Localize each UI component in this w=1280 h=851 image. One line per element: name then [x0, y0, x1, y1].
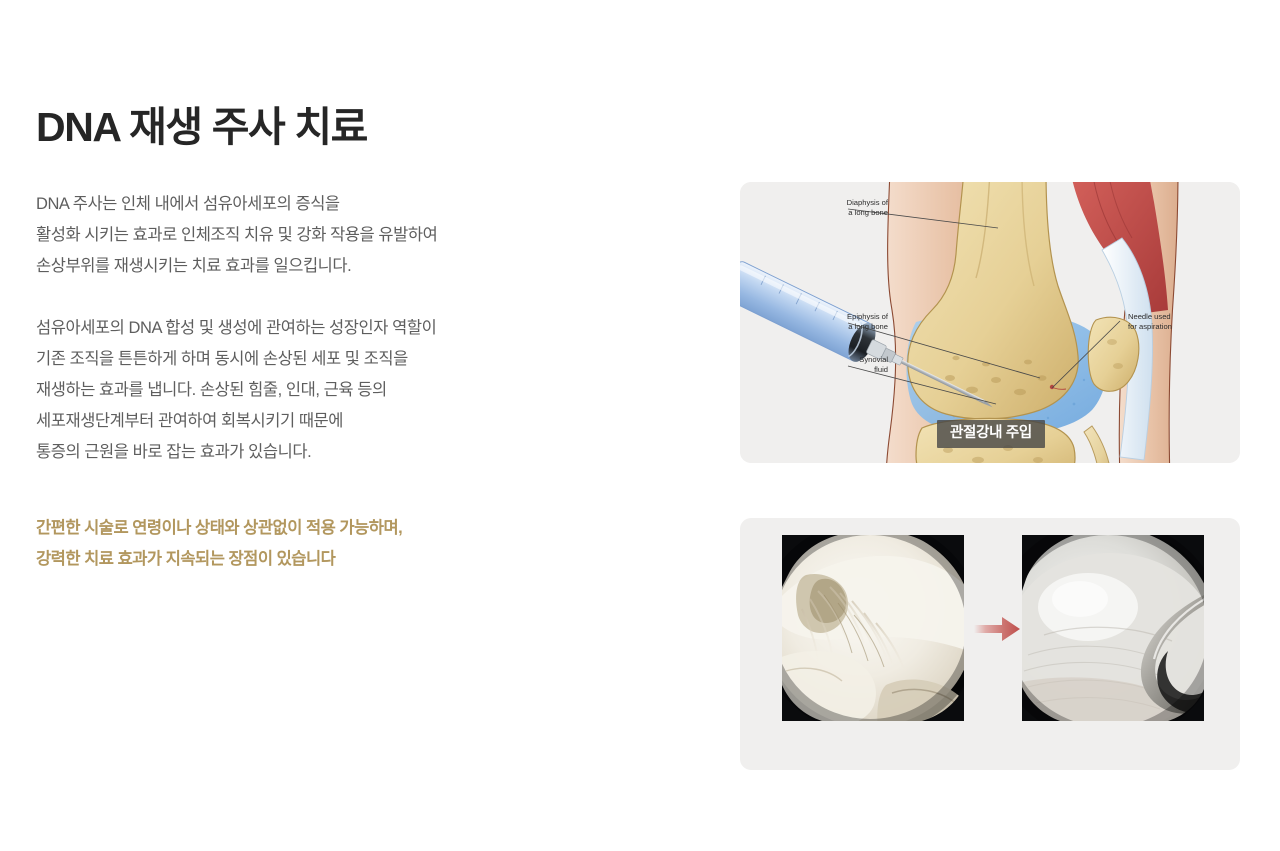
paragraph-one-line-1: DNA 주사는 인체 내에서 섬유아세포의 증식을	[36, 189, 636, 220]
text-column: DNA 재생 주사 치료 DNA 주사는 인체 내에서 섬유아세포의 증식을 활…	[36, 104, 636, 592]
caption-badge: 관절강내 주입	[937, 420, 1045, 448]
annotation-epiphysis: Epiphysis of a long bone	[796, 312, 888, 331]
annotation-diaphysis: Diaphysis of a long bone	[796, 198, 888, 217]
arthroscopy-before-photo	[782, 535, 964, 721]
arthroscopy-after-photo	[1022, 535, 1204, 721]
regenerated-cartilage-image	[1022, 535, 1204, 721]
right-arrow-icon	[974, 616, 1020, 642]
transition-arrow	[974, 616, 1020, 642]
paragraph-two-line-5: 통증의 근원을 바로 잡는 효과가 있습니다.	[36, 437, 636, 468]
paragraph-two-line-1: 섬유아세포의 DNA 합성 및 생성에 관여하는 성장인자 역할이	[36, 313, 636, 344]
page-root: DNA 재생 주사 치료 DNA 주사는 인체 내에서 섬유아세포의 증식을 활…	[0, 0, 1280, 851]
damaged-cartilage-image	[782, 535, 964, 721]
illustration-card: Diaphysis of a long bone Epiphysis of a …	[740, 182, 1240, 463]
paragraph-two-line-3: 재생하는 효과를 냅니다. 손상된 힘줄, 인대, 근육 등의	[36, 375, 636, 406]
paragraph-one-line-3: 손상부위를 재생시키는 치료 효과를 일으킵니다.	[36, 251, 636, 282]
page-title: DNA 재생 주사 치료	[36, 104, 636, 151]
paragraph-two: 섬유아세포의 DNA 합성 및 생성에 관여하는 성장인자 역할이 기존 조직을…	[36, 313, 636, 468]
knee-illustration: Diaphysis of a long bone Epiphysis of a …	[740, 182, 1240, 463]
highlight-line-1: 간편한 시술로 연령이나 상태와 상관없이 적용 가능하며,	[36, 513, 636, 544]
photos-card	[740, 518, 1240, 770]
annotation-needle: Needle used for aspiration	[1128, 312, 1228, 331]
paragraph-two-line-4: 세포재생단계부터 관여하여 회복시키기 때문에	[36, 406, 636, 437]
paragraph-one-line-2: 활성화 시키는 효과로 인체조직 치유 및 강화 작용을 유발하여	[36, 220, 636, 251]
paragraph-one: DNA 주사는 인체 내에서 섬유아세포의 증식을 활성화 시키는 효과로 인체…	[36, 189, 636, 282]
paragraph-two-line-2: 기존 조직을 튼튼하게 하며 동시에 손상된 세포 및 조직을	[36, 344, 636, 375]
highlight-text: 간편한 시술로 연령이나 상태와 상관없이 적용 가능하며, 강력한 치료 효과…	[36, 513, 636, 575]
highlight-line-2: 강력한 치료 효과가 지속되는 장점이 있습니다	[36, 544, 636, 575]
annotation-synovial-fluid: Synovial fluid	[796, 355, 888, 374]
